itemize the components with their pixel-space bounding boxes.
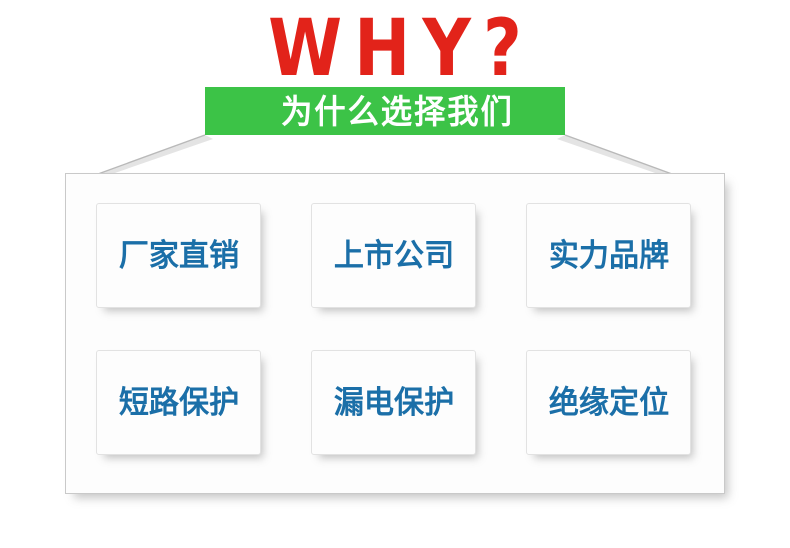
feature-card-label: 上市公司: [333, 239, 453, 273]
connector-left-shadow: [98, 135, 213, 174]
feature-card-label: 厂家直销: [118, 239, 238, 273]
subtitle-banner-label: 为什么选择我们: [214, 87, 556, 135]
feature-card-3[interactable]: 实力品牌: [526, 203, 691, 308]
feature-card-1[interactable]: 厂家直销: [96, 203, 261, 308]
features-panel: 厂家直销 上市公司 实力品牌 短路保护 漏电保护 绝缘定位: [65, 173, 725, 494]
connector-line-right: [565, 135, 672, 174]
subtitle-banner: 为什么选择我们: [205, 87, 565, 135]
feature-card-2[interactable]: 上市公司: [311, 203, 476, 308]
why-choose-us-infographic: WHY? 为什么选择我们 厂家直销 上市公司 实力品牌 短路保护 漏电保: [0, 0, 790, 548]
connector-right-shadow: [557, 135, 672, 174]
feature-card-label: 短路保护: [118, 386, 238, 420]
feature-card-label: 实力品牌: [548, 239, 668, 273]
features-grid: 厂家直销 上市公司 实力品牌 短路保护 漏电保护 绝缘定位: [96, 203, 696, 486]
page-title: WHY?: [55, 8, 734, 90]
feature-card-label: 绝缘定位: [548, 386, 668, 420]
feature-card-6[interactable]: 绝缘定位: [526, 350, 691, 455]
feature-card-4[interactable]: 短路保护: [96, 350, 261, 455]
feature-card-label: 漏电保护: [333, 386, 453, 420]
feature-card-5[interactable]: 漏电保护: [311, 350, 476, 455]
connector-line-left: [98, 135, 205, 174]
